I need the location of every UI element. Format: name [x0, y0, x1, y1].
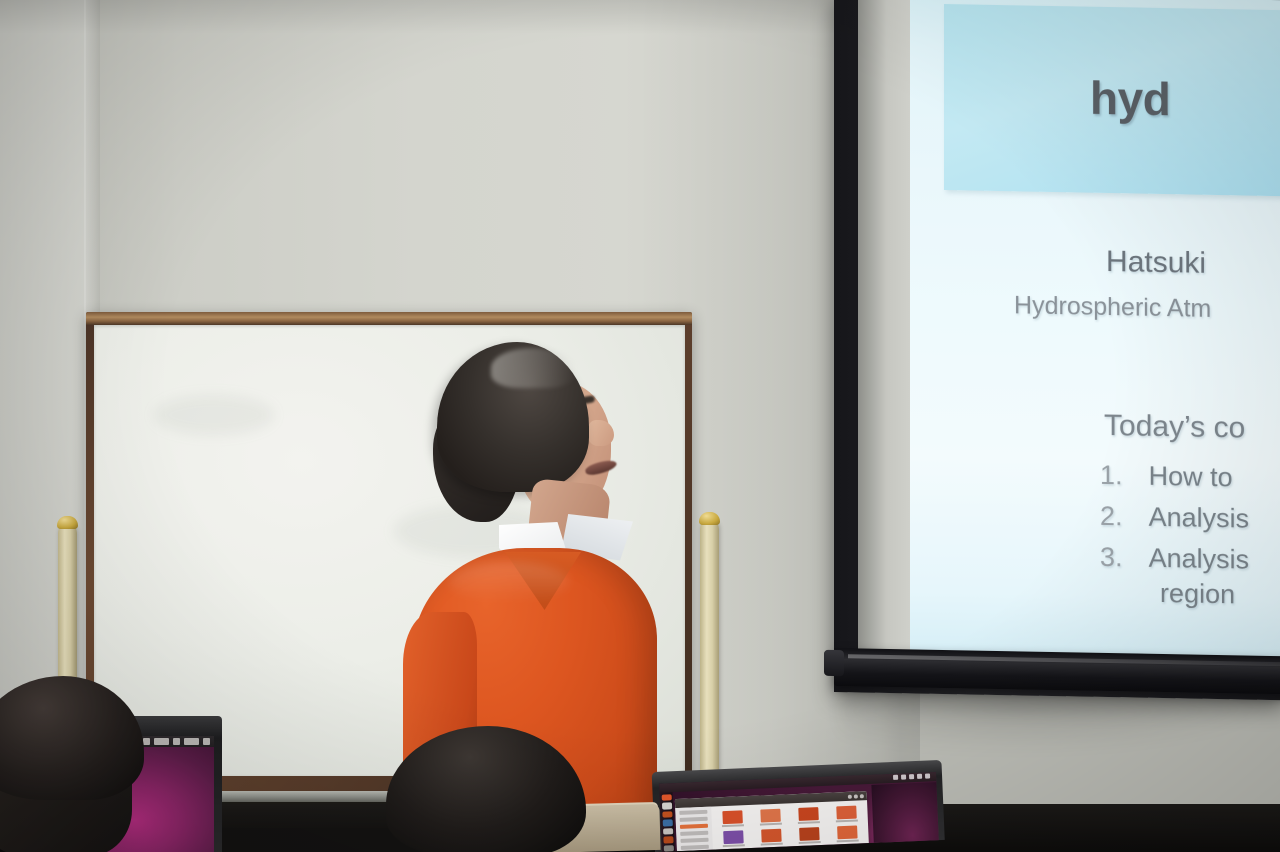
agenda-item-number: 2. [1100, 496, 1123, 537]
agenda-item: 2. Analysis [1100, 496, 1280, 543]
list-item[interactable] [754, 828, 789, 845]
slide-affiliation: Hydrospheric Atm [1014, 291, 1211, 324]
post-cap-icon [57, 516, 78, 529]
close-icon[interactable] [860, 794, 864, 798]
sidebar-item-music[interactable] [681, 845, 709, 850]
file-manager-window[interactable] [675, 791, 869, 851]
launcher-files-icon[interactable] [661, 803, 671, 810]
launcher-terminal-icon[interactable] [663, 828, 673, 835]
attendee-middle-hair [386, 726, 586, 852]
desktop-wallpaper[interactable] [871, 782, 938, 843]
projected-slide: hyd Hatsuki Hydrospheric Atm Today’s co … [910, 0, 1280, 664]
search-icon[interactable] [848, 794, 852, 798]
sidebar-item-desktop[interactable] [680, 817, 708, 822]
unity-indicator-tray[interactable] [893, 773, 930, 780]
list-item[interactable] [753, 808, 788, 825]
list-item[interactable] [791, 807, 826, 824]
launcher-firefox-icon[interactable] [662, 811, 672, 818]
agenda-item: 3. Analysis [1100, 537, 1280, 584]
list-item[interactable] [716, 830, 751, 847]
sidebar-item-home[interactable] [679, 810, 707, 815]
weight-bar-end-cap [824, 650, 844, 676]
list-item[interactable] [792, 827, 827, 844]
sidebar-item-pictures[interactable] [680, 824, 708, 829]
launcher-writer-icon[interactable] [662, 820, 672, 827]
sidebar-item-documents[interactable] [680, 831, 708, 836]
whiteboard-top-rail [86, 312, 692, 325]
projection-screen-shadow [840, 700, 1280, 752]
projection-screen-unlit-margin [858, 0, 910, 657]
gear-icon[interactable] [925, 773, 930, 778]
attendee-left [0, 676, 176, 852]
agenda-item-text: How to [1149, 456, 1233, 499]
file-manager-sidebar[interactable] [675, 807, 713, 851]
bluetooth-icon[interactable] [893, 775, 898, 780]
slide-agenda-list: 1. How to 2. Analysis 3. Analysis [1100, 455, 1280, 584]
volume-icon[interactable] [909, 774, 914, 779]
clock-icon[interactable] [184, 738, 199, 745]
post-cap-icon [699, 512, 720, 525]
file-manager-icon-grid[interactable] [713, 802, 867, 849]
sidebar-item-downloads[interactable] [680, 838, 708, 843]
launcher-software-icon[interactable] [663, 836, 673, 843]
whiteboard-post-right [700, 520, 719, 810]
monitor-right[interactable] [652, 760, 945, 852]
list-item[interactable] [829, 805, 864, 822]
agenda-item: 1. How to [1100, 455, 1280, 502]
agenda-item-number: 3. [1100, 537, 1123, 578]
launcher-dash-icon[interactable] [661, 794, 671, 801]
projection-screen: hyd Hatsuki Hydrospheric Atm Today’s co … [834, 0, 1280, 700]
attendee-middle [386, 726, 606, 852]
agenda-item-continuation: region [1160, 578, 1235, 610]
network-icon[interactable] [901, 774, 906, 779]
minimize-icon[interactable] [854, 794, 858, 798]
slide-author: Hatsuki [1106, 245, 1206, 281]
presenter-shoulder-highlight [449, 562, 569, 602]
presenter-nose [588, 420, 614, 446]
attendee-left-hair [0, 676, 144, 800]
list-item[interactable] [829, 825, 864, 842]
whiteboard-smudge [154, 395, 274, 435]
presenter-hair-highlight [491, 348, 575, 388]
monitor-right-screen[interactable] [659, 772, 939, 852]
agenda-item-text: Analysis [1149, 538, 1250, 581]
slide-agenda-heading: Today’s co [1104, 409, 1245, 446]
clock-icon[interactable] [917, 774, 922, 779]
agenda-item-text: Analysis [1149, 497, 1250, 540]
gear-icon[interactable] [203, 738, 210, 745]
lecture-room-photo: hyd Hatsuki Hydrospheric Atm Today’s co … [0, 0, 1280, 852]
unity-launcher[interactable] [660, 792, 675, 851]
launcher-settings-icon[interactable] [663, 845, 673, 852]
slide-title: hyd [1090, 71, 1170, 126]
list-item[interactable] [715, 810, 750, 827]
agenda-item-number: 1. [1100, 455, 1123, 496]
